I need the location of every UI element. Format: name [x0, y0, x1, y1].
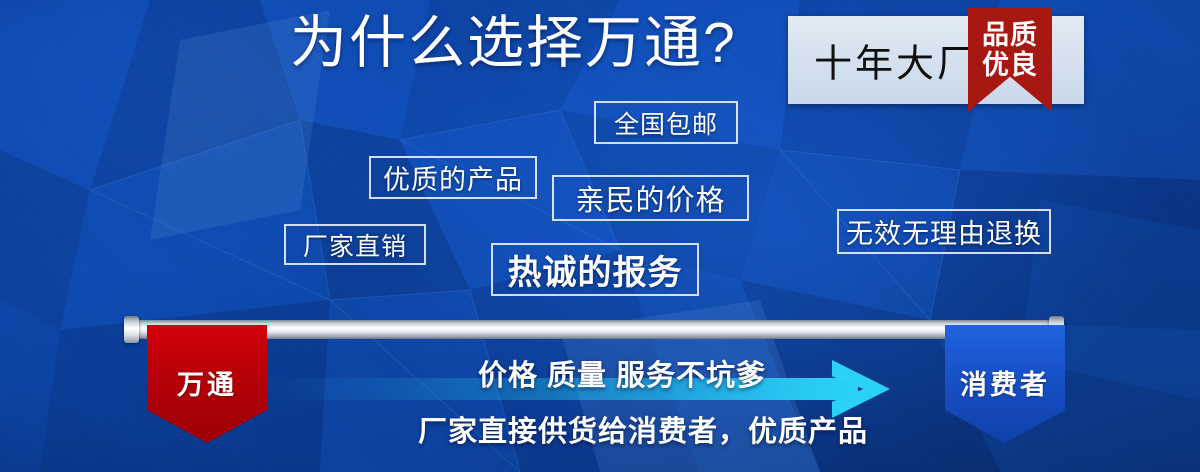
feature-tag-friendly-price: 亲民的价格 [552, 175, 749, 221]
feature-tag-quality-product: 优质的产品 [369, 156, 537, 199]
quality-ribbon-line2: 优良 [982, 50, 1038, 80]
feature-tag-nationwide-shipping: 全国包邮 [594, 101, 738, 144]
feature-tag-free-return: 无效无理由退换 [837, 209, 1051, 254]
pennant-manufacturer-label: 万通 [177, 363, 237, 402]
slogan-secondary: 厂家直接供货给消费者，优质产品 [418, 408, 868, 450]
slogan-primary: 价格 质量 服务不坑爹 [478, 352, 766, 394]
feature-tag-sincere-service: 热诚的报务 [491, 243, 699, 296]
feature-tag-factory-direct: 厂家直销 [284, 224, 426, 265]
promo-banner: 为什么选择万通? 十年大厂 品质 优良 全国包邮 优质的产品 亲民的价格 厂家直… [0, 0, 1200, 472]
quality-ribbon-text: 品质 优良 [968, 20, 1052, 80]
page-title: 为什么选择万通? [290, 14, 737, 74]
factory-badge-label: 十年大厂 [814, 33, 978, 88]
pennant-consumer-label: 消费者 [960, 363, 1050, 402]
pipeline-bar-cap-left [124, 316, 139, 343]
quality-ribbon-line1: 品质 [982, 20, 1038, 50]
